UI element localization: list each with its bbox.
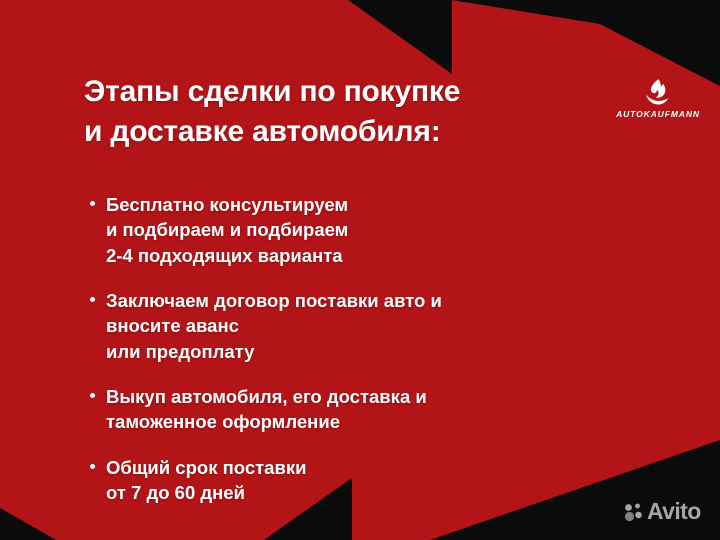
avito-dots-icon bbox=[624, 502, 644, 522]
bullet-dot-icon bbox=[90, 393, 95, 398]
list-item: Выкуп автомобиля, его доставка и таможен… bbox=[88, 384, 608, 435]
list-item: Заключаем договор поставки авто и вносит… bbox=[88, 288, 608, 364]
bullet-dot-icon bbox=[90, 297, 95, 302]
list-item: Общий срок поставки от 7 до 60 дней bbox=[88, 455, 608, 506]
list-item-line: Заключаем договор поставки авто и bbox=[106, 288, 608, 313]
list-item-line: вносите аванс bbox=[106, 313, 608, 338]
page-title-line-1: Этапы сделки по покупке bbox=[84, 72, 604, 112]
flame-horse-mark-icon bbox=[643, 78, 673, 106]
list-item-line: Общий срок поставки bbox=[106, 455, 608, 480]
steps-list: Бесплатно консультируем и подбираем и по… bbox=[88, 192, 608, 505]
list-item-line: таможенное оформление bbox=[106, 409, 608, 434]
list-item-line: Выкуп автомобиля, его доставка и bbox=[106, 384, 608, 409]
brand-logo: AUTOKAUFMANN bbox=[608, 78, 708, 119]
promo-poster: Этапы сделки по покупке и доставке автом… bbox=[0, 0, 720, 540]
poster-content: Этапы сделки по покупке и доставке автом… bbox=[0, 0, 720, 540]
page-title: Этапы сделки по покупке и доставке автом… bbox=[84, 72, 604, 152]
bullet-dot-icon bbox=[90, 464, 95, 469]
list-item: Бесплатно консультируем и подбираем и по… bbox=[88, 192, 608, 268]
brand-wordmark: AUTOKAUFMANN bbox=[608, 109, 708, 119]
list-item-line: или предоплату bbox=[106, 339, 608, 364]
page-title-line-2: и доставке автомобиля: bbox=[84, 112, 604, 152]
list-item-line: Бесплатно консультируем bbox=[106, 192, 608, 217]
list-item-line: 2-4 подходящих варианта bbox=[106, 243, 608, 268]
list-item-line: от 7 до 60 дней bbox=[106, 480, 608, 505]
bullet-dot-icon bbox=[90, 201, 95, 206]
list-item-line: и подбираем и подбираем bbox=[106, 217, 608, 242]
avito-watermark: Avito bbox=[624, 500, 701, 523]
avito-wordmark: Avito bbox=[647, 500, 701, 523]
